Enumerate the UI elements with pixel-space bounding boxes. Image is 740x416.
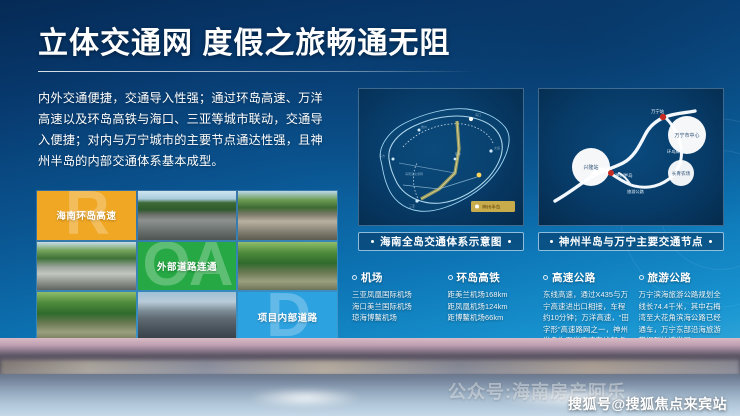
bullet-icon <box>639 275 644 280</box>
feature-body: 三亚凤凰国际机场 海口美兰国际机场 琼海博鳌机场 <box>352 289 442 324</box>
map-road-label: 旅游公路 <box>627 188 645 195</box>
map-caption-text: 神州半岛与万宁主要交通节点 <box>559 234 703 249</box>
map-panel-hainan: 海口 儋州 东方 三亚 文昌 琼中 海南岛交通网 神州半岛 海南全岛交通体系示意… <box>358 88 524 251</box>
collage-photo-dusk-road <box>138 292 237 341</box>
map-caption-hainan: 海南全岛交通体系示意图 <box>358 232 524 251</box>
intro-paragraph: 内外交通便捷，交通导入性强；通过环岛高速、万洋高速以及环岛高铁与海口、三亚等城市… <box>38 88 328 172</box>
caption-dot-icon <box>371 240 374 243</box>
map-node-label: 万宁市中心 <box>674 132 699 139</box>
collage-tile-caption: 海南环岛高速 <box>37 208 136 222</box>
water-glint <box>250 388 360 408</box>
map-node-label: 兴隆站 <box>583 164 598 171</box>
page-title: 立体交通网 度假之旅畅通无阻 <box>38 18 508 62</box>
feature-title: 环岛高铁 <box>457 270 501 285</box>
feature-column-rail: 环岛高铁 距美兰机场168km 距凤凰机场124km 距博鳌机场66km <box>448 270 538 347</box>
map-node-label: 万宁站 <box>651 108 665 115</box>
collage-photo-road <box>37 242 136 291</box>
feature-heading: 机场 <box>352 270 442 285</box>
collage-photo-road <box>238 191 337 240</box>
collage-tile-caption: 项目内部道路 <box>238 310 337 324</box>
caption-dot-icon <box>508 240 511 243</box>
map-image-hainan: 海口 儋州 东方 三亚 文昌 琼中 海南岛交通网 神州半岛 <box>358 88 524 226</box>
collage-tile-caption: 外部道路连通 <box>138 259 237 273</box>
image-collage: R 海南环岛高速 OA 外部道路连通 D 项目内部道路 <box>36 190 338 342</box>
collage-tile-highway: R 海南环岛高速 <box>37 191 136 240</box>
feature-title: 高速公路 <box>552 270 596 285</box>
collage-tile-internal-roads: D 项目内部道路 <box>238 292 337 341</box>
bullet-icon <box>448 275 453 280</box>
map-image-shenzhou: 万宁市中心 兴隆站 长青农场 万宁站 神州半岛 环岛高速 旅游公路 <box>538 88 724 226</box>
feature-title: 旅游公路 <box>648 270 692 285</box>
map-legend-label: 神州半岛 <box>482 204 501 211</box>
collage-photo-road <box>138 191 237 240</box>
feature-column-airport: 机场 三亚凤凰国际机场 海口美兰国际机场 琼海博鳌机场 <box>352 270 442 347</box>
title-block: 立体交通网 度假之旅畅通无阻 <box>38 18 508 72</box>
svg-text:三亚: 三亚 <box>409 204 415 208</box>
feature-heading: 高速公路 <box>543 270 633 285</box>
caption-dot-icon <box>550 240 553 243</box>
feature-column-tourism-road: 旅游公路 万宁滨海旅游公路规划全线长74.4千米，其中石梅湾至大花角滨海公路已经… <box>639 270 729 347</box>
watermark-sohu: 搜狐号@搜狐焦点来宾站 <box>568 394 727 414</box>
title-underline <box>38 71 475 72</box>
map-caption-shenzhou: 神州半岛与万宁主要交通节点 <box>538 232 724 251</box>
svg-text:琼中: 琼中 <box>455 151 461 156</box>
collage-tile-external-roads: OA 外部道路连通 <box>138 242 237 291</box>
hainan-map-svg: 海口 儋州 东方 三亚 文昌 琼中 海南岛交通网 神州半岛 <box>359 89 524 226</box>
shenzhou-map-svg: 万宁市中心 兴隆站 长青农场 万宁站 神州半岛 环岛高速 旅游公路 <box>539 89 724 226</box>
svg-text:文昌: 文昌 <box>494 145 500 150</box>
feature-title: 机场 <box>361 270 383 285</box>
svg-text:东方: 东方 <box>379 153 385 158</box>
map-node-label: 长青农场 <box>672 170 691 177</box>
svg-text:儋州: 儋州 <box>421 124 427 129</box>
caption-dot-icon <box>709 240 712 243</box>
svg-text:海南岛交通网: 海南岛交通网 <box>405 171 423 176</box>
feature-heading: 旅游公路 <box>639 270 729 285</box>
feature-body: 距美兰机场168km 距凤凰机场124km 距博鳌机场66km <box>448 289 538 324</box>
svg-text:海口: 海口 <box>475 112 481 117</box>
collage-photo-trees <box>37 292 136 341</box>
map-road-label: 环岛高速 <box>667 148 685 155</box>
bullet-icon <box>352 275 357 280</box>
bullet-icon <box>543 275 548 280</box>
feature-columns: 机场 三亚凤凰国际机场 海口美兰国际机场 琼海博鳌机场 环岛高铁 距美兰机场16… <box>352 270 728 347</box>
map-node-label: 神州半岛 <box>615 172 633 179</box>
map-caption-text: 海南全岛交通体系示意图 <box>380 234 502 249</box>
poster-root: 立体交通网 度假之旅畅通无阻 内外交通便捷，交通导入性强；通过环岛高速、万洋高速… <box>0 0 740 416</box>
collage-photo-road <box>238 242 337 291</box>
feature-column-expressway: 高速公路 东线高速，通过X435与万宁高速进出口相接，车程约10分钟；万洋高速，… <box>543 270 633 347</box>
map-panel-shenzhou: 万宁市中心 兴隆站 长青农场 万宁站 神州半岛 环岛高速 旅游公路 神州半岛与万… <box>538 88 724 251</box>
feature-heading: 环岛高铁 <box>448 270 538 285</box>
